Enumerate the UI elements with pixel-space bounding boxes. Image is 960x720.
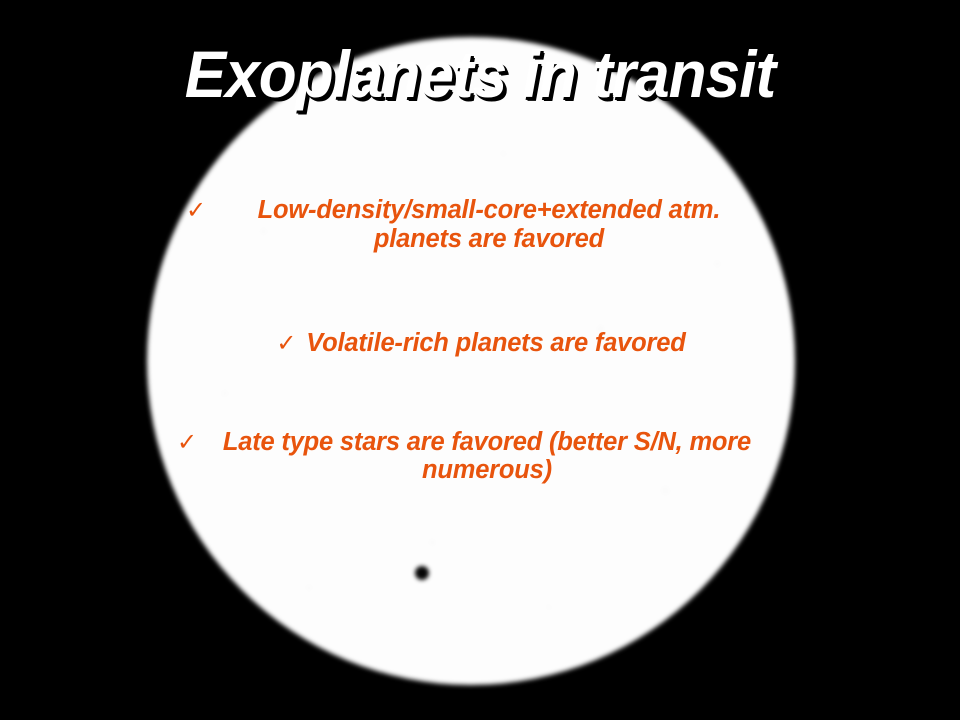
check-icon: ✓ xyxy=(186,197,206,225)
bullet-text: Late type stars are favored (better S/N,… xyxy=(207,428,767,485)
bullet-list: ✓ Low-density/small-core+extended atm. p… xyxy=(150,196,810,485)
bullet-item: ✓ Late type stars are favored (better S/… xyxy=(134,428,810,485)
check-icon: ✓ xyxy=(276,330,296,358)
bullet-item: ✓ Low-density/small-core+extended atm. p… xyxy=(138,196,810,253)
presentation-slide: Exoplanets in transit ✓ Low-density/smal… xyxy=(0,0,960,720)
bullet-text: Volatile-rich planets are favored xyxy=(306,329,685,358)
transiting-planet-dot xyxy=(415,566,429,580)
bullet-item: ✓ Volatile-rich planets are favored xyxy=(152,329,810,358)
check-icon: ✓ xyxy=(177,429,197,457)
bullet-text: Low-density/small-core+extended atm. pla… xyxy=(216,196,762,253)
